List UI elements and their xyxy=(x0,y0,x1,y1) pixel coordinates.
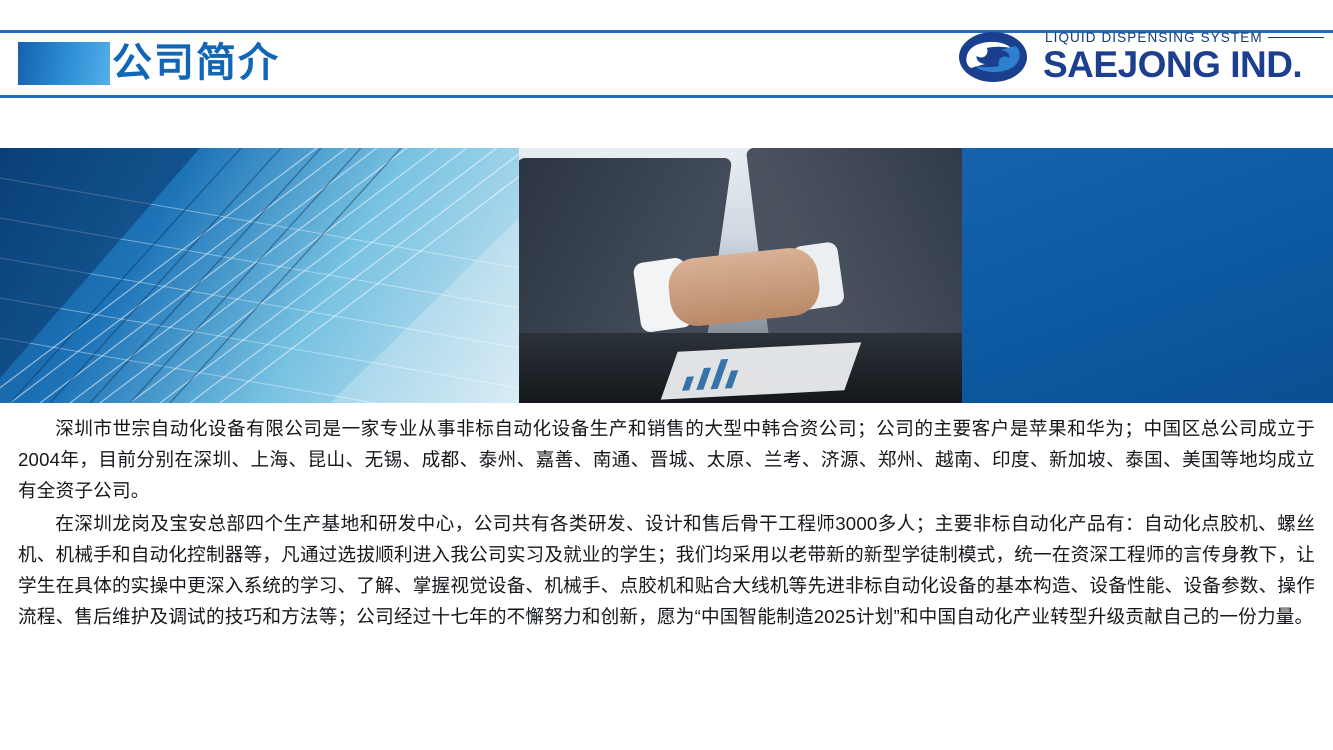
header-bottom-rule xyxy=(0,95,1333,98)
intro-paragraph-2: 在深圳龙岗及宝安总部四个生产基地和研发中心，公司共有各类研发、设计和售后骨干工程… xyxy=(18,508,1315,632)
page-title: 公司简介 xyxy=(112,36,280,90)
saejong-s-mark-icon xyxy=(957,30,1029,84)
doc-chart-bar xyxy=(696,368,711,390)
page-header: 公司简介 LIQUID DISPENSING SYSTEM SAEJONG IN… xyxy=(0,0,1333,122)
doc-chart-bar xyxy=(725,370,738,388)
image-band xyxy=(0,148,1333,403)
title-accent-block xyxy=(18,42,110,85)
company-logo: LIQUID DISPENSING SYSTEM SAEJONG IND. xyxy=(957,26,1317,88)
glass-building-photo xyxy=(0,148,519,403)
logo-tagline: LIQUID DISPENSING SYSTEM xyxy=(1045,30,1324,45)
handshake-photo xyxy=(519,148,962,403)
logo-brand-text: SAEJONG IND. xyxy=(1043,44,1302,86)
glass-photo-lines xyxy=(0,148,519,403)
logo-tagline-text: LIQUID DISPENSING SYSTEM xyxy=(1045,30,1263,45)
intro-paragraph-1: 深圳市世宗自动化设备有限公司是一家专业从事非标自动化设备生产和销售的大型中韩合资… xyxy=(18,413,1315,506)
company-intro-text: 深圳市世宗自动化设备有限公司是一家专业从事非标自动化设备生产和销售的大型中韩合资… xyxy=(0,403,1333,632)
doc-chart-bar xyxy=(682,376,694,390)
blue-panel xyxy=(962,148,1333,403)
logo-tagline-rule xyxy=(1268,37,1324,38)
